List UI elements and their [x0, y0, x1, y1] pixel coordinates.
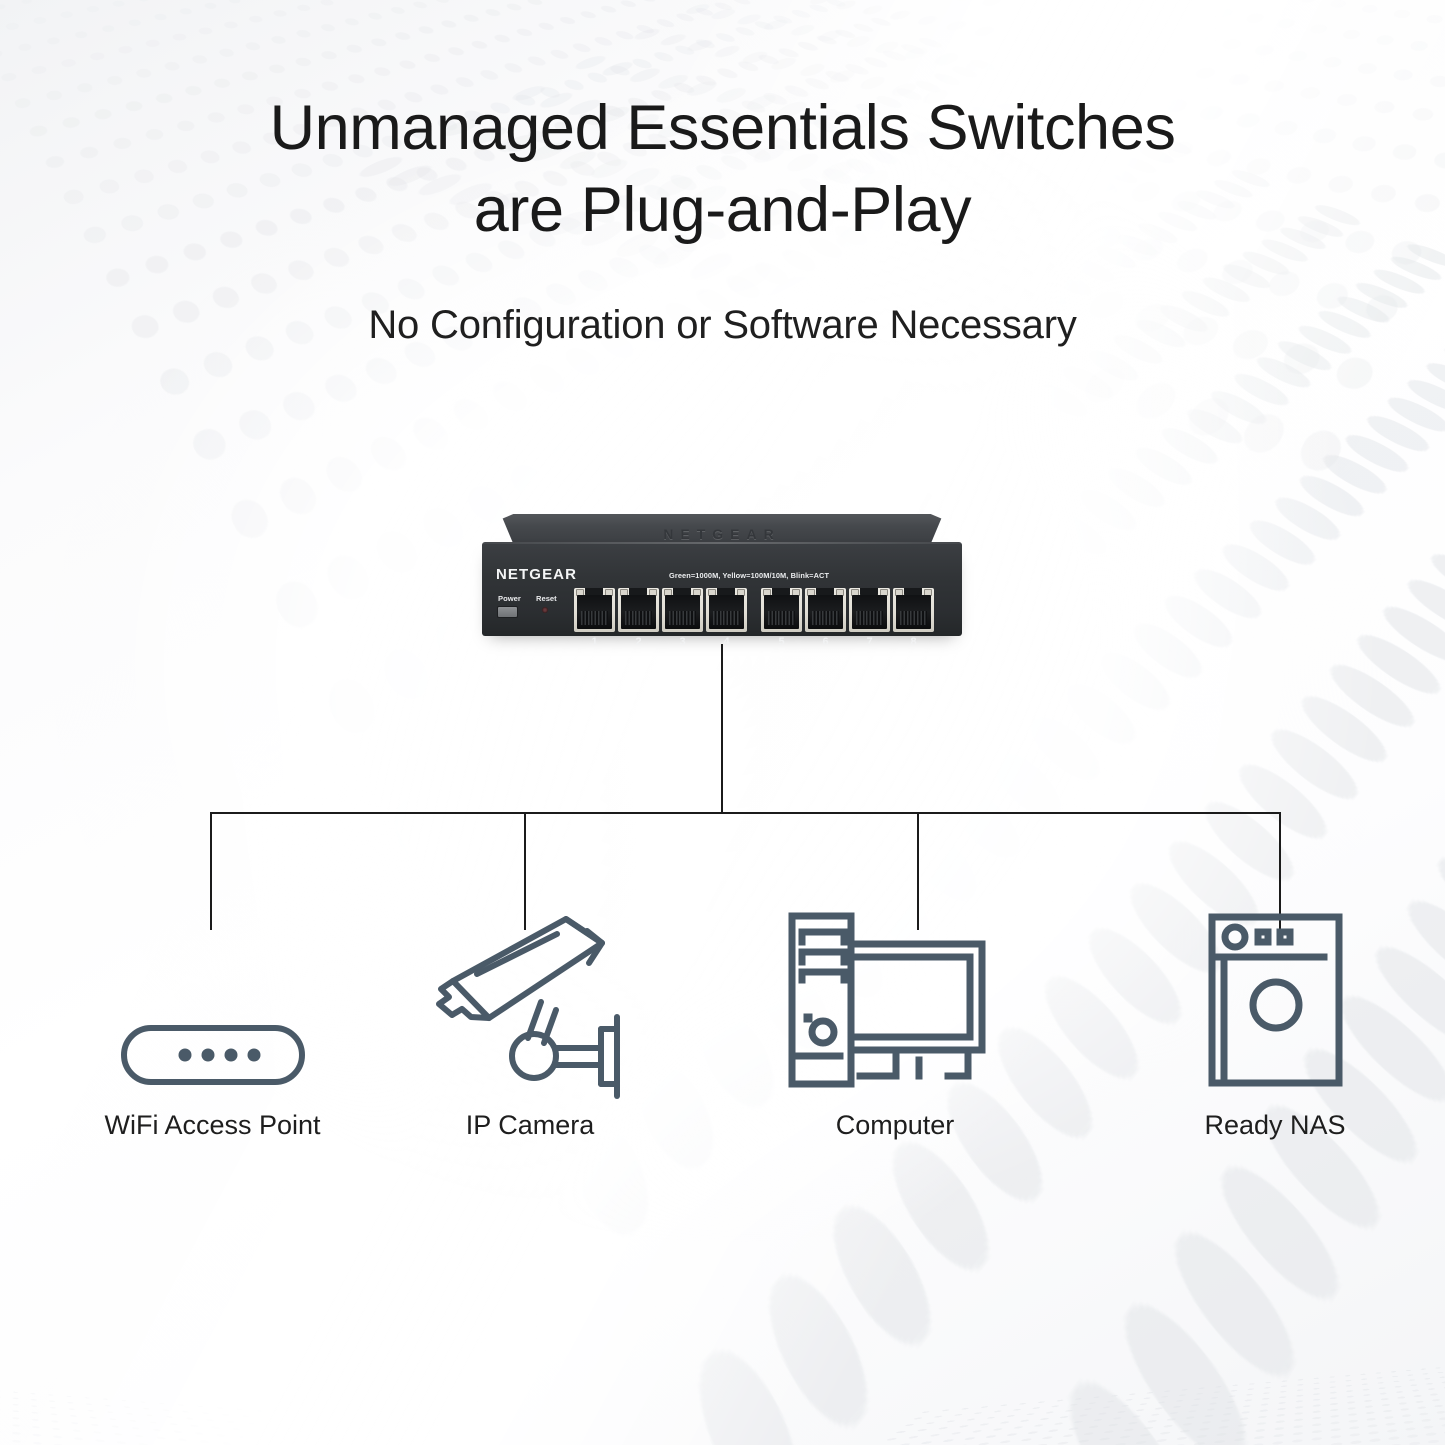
switch-port-contacts — [808, 595, 843, 629]
switch-brand-logo: NETGEAR — [496, 566, 577, 583]
switch-port-contacts — [896, 595, 931, 629]
switch-port-contacts — [852, 595, 887, 629]
ready-nas-icon — [1198, 905, 1353, 1100]
wifi-access-point-icon-wrap — [40, 900, 385, 1100]
switch-reset-label: Reset — [536, 594, 557, 603]
switch-lid-embossed-logo: NETGEAR — [663, 526, 780, 542]
poster-canvas: Unmanaged Essentials Switches are Plug-a… — [0, 0, 1445, 1445]
page-title-line-1: Unmanaged Essentials Switches — [0, 88, 1445, 170]
page-subtitle: No Configuration or Software Necessary — [0, 303, 1445, 348]
switch-port-jack — [706, 588, 747, 632]
switch-port-jack — [574, 588, 615, 632]
switch-port-jack — [761, 588, 802, 632]
wifi-access-point-icon — [118, 1010, 308, 1100]
page-title-line-2: are Plug-and-Play — [0, 170, 1445, 252]
ready-nas-icon-wrap — [1130, 900, 1420, 1100]
device-label-computer: Computer — [740, 1110, 1050, 1141]
device-label-ready-nas: Ready NAS — [1130, 1110, 1420, 1141]
connected-devices-row: WiFi Access Point — [0, 900, 1445, 1200]
computer-icon — [778, 900, 1013, 1100]
device-computer[interactable]: Computer — [740, 900, 1050, 1141]
switch-port-jack — [618, 588, 659, 632]
switch-port-jack — [805, 588, 846, 632]
switch-front-panel: NETGEAR Green=1000M, Yellow=100M/10M, Bl… — [482, 542, 962, 636]
ip-camera-icon-wrap — [390, 900, 670, 1100]
switch-power-label: Power — [498, 594, 521, 603]
switch-power-led — [497, 606, 518, 618]
switch-port-contacts — [709, 595, 744, 629]
device-ip-camera[interactable]: IP Camera — [390, 900, 670, 1141]
switch-port-jack — [662, 588, 703, 632]
computer-icon-wrap — [740, 900, 1050, 1100]
switch-port-jack — [849, 588, 890, 632]
device-wifi-access-point[interactable]: WiFi Access Point — [40, 900, 385, 1141]
switch-led-legend: Green=1000M, Yellow=100M/10M, Blink=ACT — [669, 571, 829, 580]
network-switch-device: NETGEAR NETGEAR Green=1000M, Yellow=100M… — [482, 514, 962, 636]
switch-port-contacts — [665, 595, 700, 629]
device-label-ip-camera: IP Camera — [390, 1110, 670, 1141]
switch-port-contacts — [577, 595, 612, 629]
switch-reset-button[interactable] — [542, 607, 548, 613]
page-title: Unmanaged Essentials Switches are Plug-a… — [0, 88, 1445, 252]
switch-port-contacts — [621, 595, 656, 629]
ip-camera-icon — [425, 905, 635, 1100]
device-ready-nas[interactable]: Ready NAS — [1130, 900, 1420, 1141]
device-label-wifi-access-point: WiFi Access Point — [40, 1110, 385, 1141]
switch-port-contacts — [764, 595, 799, 629]
switch-port-jack — [893, 588, 934, 632]
